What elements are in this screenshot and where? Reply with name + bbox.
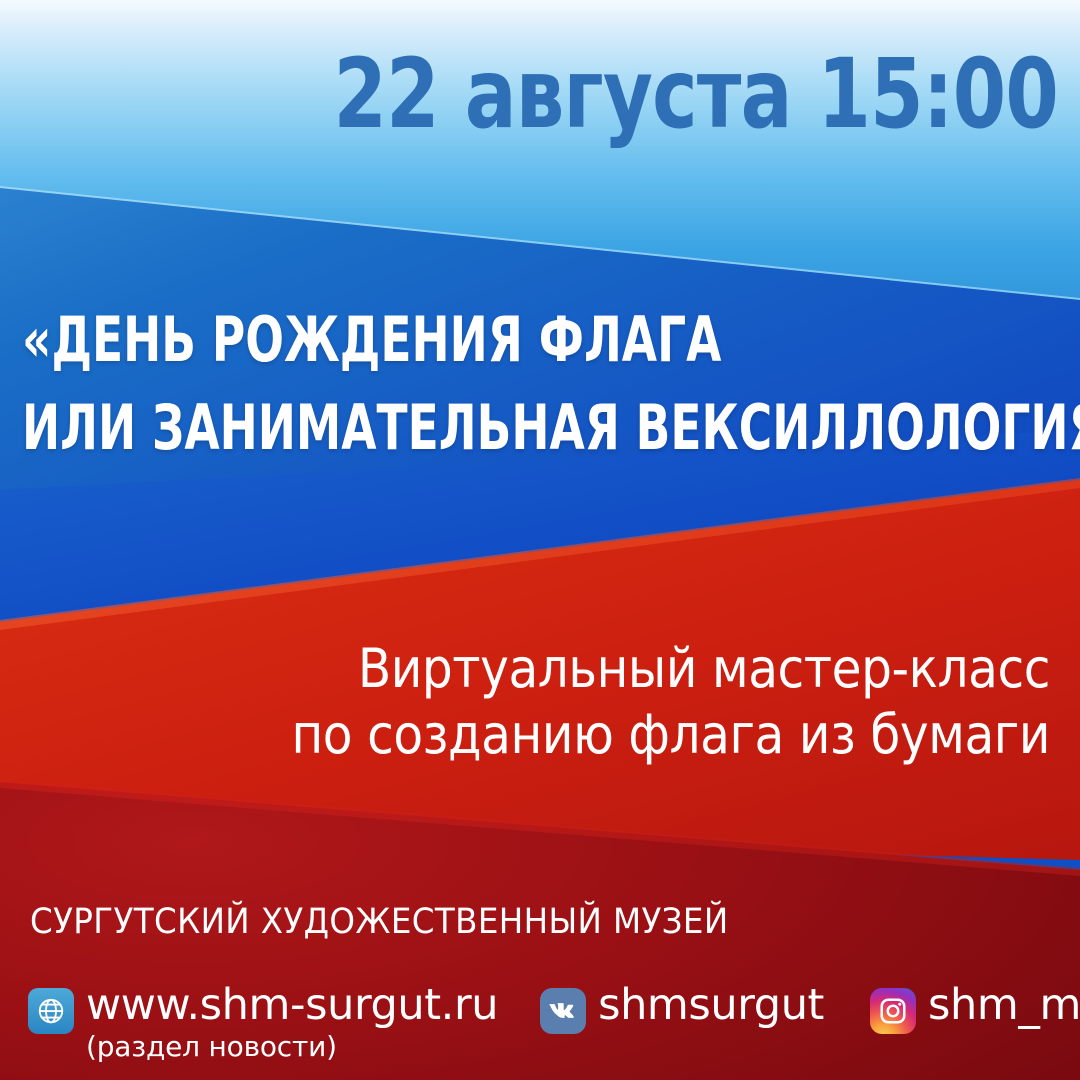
event-subtitle: Виртуальный мастер-класс по созданию фла… (0, 636, 1050, 768)
website-url: www.shm-surgut.ru (86, 980, 498, 1030)
event-subtitle-line-1: Виртуальный мастер-класс (105, 636, 1050, 702)
instagram-icon (870, 988, 916, 1034)
contact-website[interactable]: www.shm-surgut.ru (раздел новости) (28, 984, 498, 1063)
event-datetime: 22 августа 15:00 (212, 44, 1058, 145)
website-note: (раздел новости) (86, 1030, 498, 1063)
event-subtitle-line-2: по созданию флага из бумаги (105, 702, 1050, 768)
contact-instagram[interactable]: shm_museum (870, 984, 1080, 1034)
event-poster: 22 августа 15:00 «ДЕНЬ РОЖДЕНИЯ ФЛАГА ИЛ… (0, 0, 1080, 1080)
event-title-line-1: «ДЕНЬ РОЖДЕНИЯ ФЛАГА (22, 296, 791, 384)
contact-vk[interactable]: shmsurgut (540, 984, 824, 1034)
event-title: «ДЕНЬ РОЖДЕНИЯ ФЛАГА ИЛИ ЗАНИМАТЕЛЬНАЯ В… (22, 296, 1068, 472)
vk-icon (540, 988, 586, 1034)
instagram-handle: shm_museum (928, 984, 1080, 1028)
vk-handle: shmsurgut (598, 984, 824, 1028)
contact-row: www.shm-surgut.ru (раздел новости) shmsu… (28, 984, 1066, 1063)
event-title-line-2: ИЛИ ЗАНИМАТЕЛЬНАЯ ВЕКСИЛЛОЛОГИЯ» (22, 384, 791, 472)
globe-icon (28, 988, 74, 1034)
organization-name: СУРГУТСКИЙ ХУДОЖЕСТВЕННЫЙ МУЗЕЙ (30, 902, 729, 942)
website-text: www.shm-surgut.ru (раздел новости) (86, 984, 498, 1063)
